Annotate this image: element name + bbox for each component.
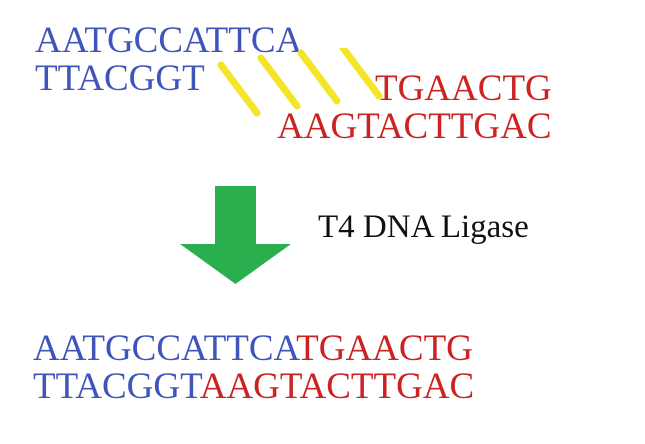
product-top-strand-segment-b: TGAACTG [296,328,473,369]
hash-mark-2 [261,58,297,106]
product-bottom-strand: TTACGGTAAGTACTTGAC [33,368,474,406]
product-bottom-strand-segment-a: TTACGGT [33,366,200,407]
diagram-canvas: AATGCCATTCA TTACGGT TGAACTG AAGTACTTGAC … [0,0,645,444]
product-top-strand-segment-a: AATGCCATTCA [33,328,296,369]
left-fragment-bottom-strand: TTACGGT [35,60,205,98]
hash-mark-4 [343,48,379,96]
hash-mark-1 [221,65,257,113]
hash-mark-3 [301,53,337,101]
complementarity-hash-marks-icon [205,48,385,120]
right-fragment-top-strand: TGAACTG [375,70,552,108]
reaction-arrow-icon [178,186,293,286]
product-top-strand: AATGCCATTCATGAACTG [33,330,473,368]
product-bottom-strand-segment-b: AAGTACTTGAC [200,366,475,407]
enzyme-label: T4 DNA Ligase [318,209,529,245]
